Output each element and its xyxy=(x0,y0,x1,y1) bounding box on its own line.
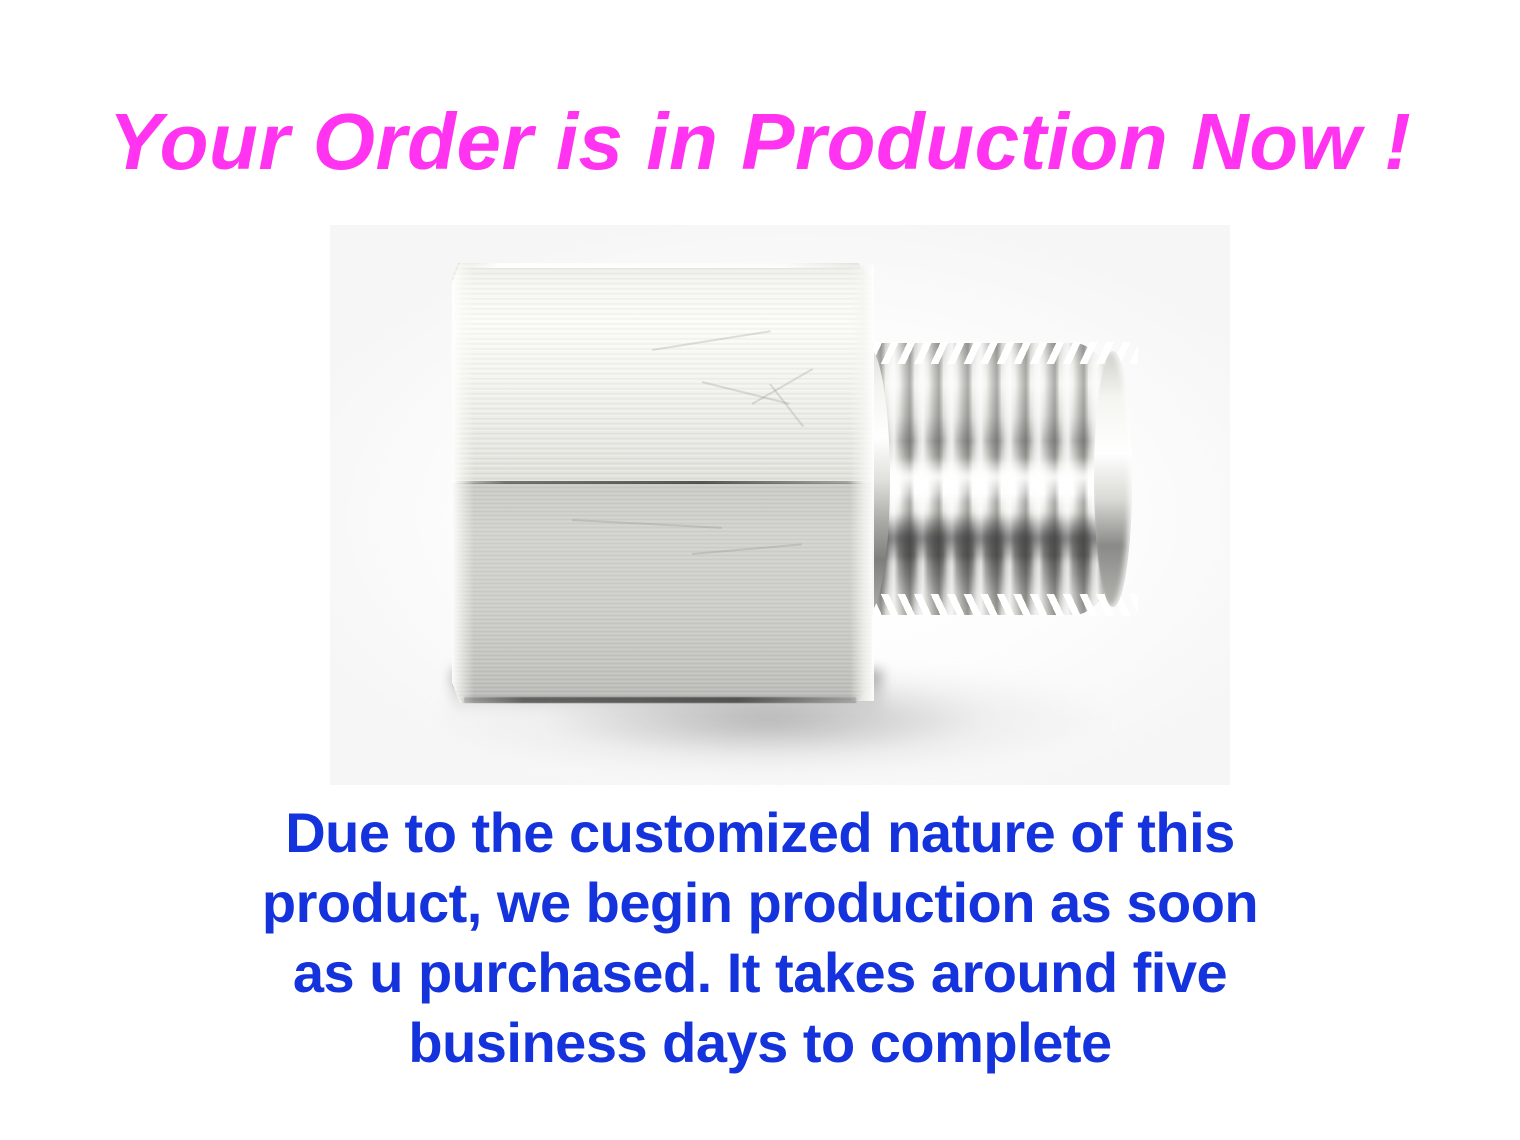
bodycopy-line: Due to the customized nature of this xyxy=(0,798,1520,868)
thread-crests-top xyxy=(858,342,1138,364)
machining-striations xyxy=(452,263,872,483)
product-photo xyxy=(0,215,1520,795)
thread-specular-highlight xyxy=(862,457,1130,501)
bodycopy-line: product, we begin production as soon xyxy=(0,868,1520,938)
bodycopy: Due to the customized nature of this pro… xyxy=(0,798,1520,1078)
thread-crests-bottom xyxy=(858,594,1138,616)
male-threaded-end-icon xyxy=(862,343,1130,615)
bodycopy-line: business days to complete xyxy=(0,1008,1520,1078)
hex-nut-body xyxy=(452,263,872,703)
thread-shadow-band xyxy=(862,514,1130,563)
machining-striations xyxy=(452,483,872,703)
hex-top-edge xyxy=(460,263,860,268)
bodycopy-line: as u purchased. It takes around five xyxy=(0,938,1520,1008)
hex-right-chamfer xyxy=(850,265,874,701)
promo-banner: Your Order is in Production Now ! xyxy=(0,0,1520,1140)
thread-end-cap xyxy=(1094,351,1132,607)
thread-body xyxy=(862,343,1130,615)
hex-upper-facet xyxy=(452,263,872,483)
hex-facet-edge xyxy=(456,481,868,484)
hex-bottom-edge xyxy=(464,697,856,703)
page-title: Your Order is in Production Now ! xyxy=(0,96,1520,188)
hex-lower-facet xyxy=(452,483,872,703)
hex-left-chamfer xyxy=(452,263,474,703)
